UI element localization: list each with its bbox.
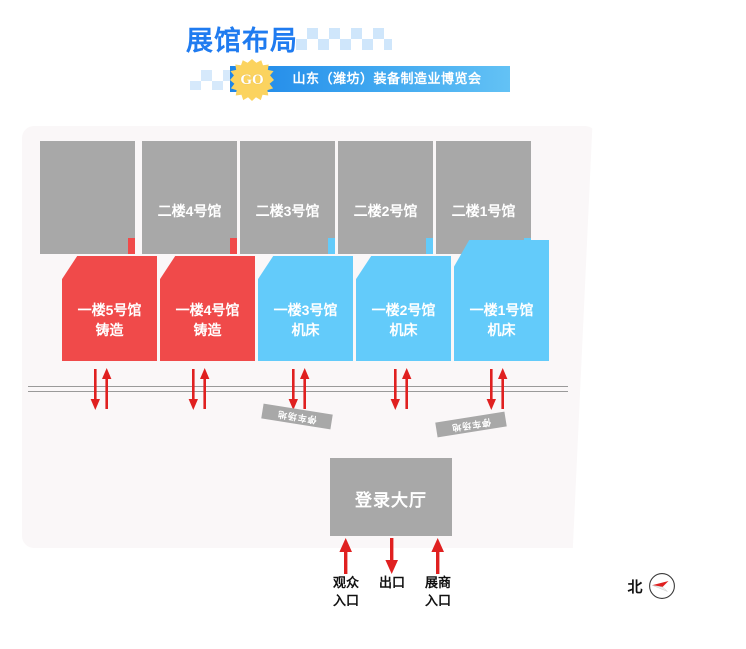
- hall-1f-2-category: 机床: [356, 320, 451, 340]
- hall-1f-5-name: 一楼5号馆: [62, 300, 157, 320]
- entrance-visitor-line2: 入口: [322, 592, 370, 610]
- compass-icon: [648, 572, 676, 600]
- arrow-up-icon: [414, 538, 462, 574]
- go-badge-label: GO: [230, 59, 274, 101]
- go-badge: GO: [230, 59, 274, 101]
- hall-1f-4-name: 一楼4号馆: [160, 300, 255, 320]
- hall-2f-2[interactable]: 二楼2号馆: [338, 141, 433, 254]
- arrow-up-icon: [322, 538, 370, 574]
- page-title: 展馆布局: [186, 24, 298, 58]
- entrance-exhibitor-line1: 展商: [414, 574, 462, 592]
- traffic-arrows-2: [188, 367, 210, 411]
- compass-north-label: 北: [626, 576, 644, 597]
- parking-banner-east-label: 停车场地: [450, 414, 492, 435]
- hall-1f-3-name: 一楼3号馆: [258, 300, 353, 320]
- compass: 北: [626, 572, 688, 600]
- hall-2f-5[interactable]: [40, 141, 135, 254]
- bidirectional-arrow-icon: [90, 367, 112, 411]
- entrance-visitor-line1: 观众: [322, 574, 370, 592]
- hall-2f-3-label: 二楼3号馆: [240, 201, 335, 221]
- traffic-arrows-3: [288, 367, 310, 411]
- venue-map: 二楼4号馆 二楼3号馆 二楼2号馆 二楼1号馆 一楼5号馆 铸造 一楼4号馆 铸…: [0, 0, 746, 649]
- hall-2f-3[interactable]: 二楼3号馆: [240, 141, 335, 254]
- hall-connector-4: [230, 238, 237, 254]
- bidirectional-arrow-icon: [486, 367, 508, 411]
- bidirectional-arrow-icon: [188, 367, 210, 411]
- hall-2f-1-label: 二楼1号馆: [436, 201, 531, 221]
- bidirectional-arrow-icon: [288, 367, 310, 411]
- page-title-wrap: 展馆布局: [186, 24, 298, 58]
- hall-1f-1-category: 机床: [454, 320, 549, 340]
- hall-1f-1-name: 一楼1号馆: [454, 300, 549, 320]
- exit: 出口: [368, 538, 416, 592]
- hall-1f-3[interactable]: 一楼3号馆 机床: [258, 256, 353, 361]
- hall-1f-2-name: 一楼2号馆: [356, 300, 451, 320]
- hall-1f-4[interactable]: 一楼4号馆 铸造: [160, 256, 255, 361]
- checker-pattern-title: [296, 28, 392, 50]
- hall-1f-2[interactable]: 一楼2号馆 机床: [356, 256, 451, 361]
- entrance-exhibitor: 展商 入口: [414, 538, 462, 610]
- arrow-down-icon: [368, 538, 416, 574]
- parking-banner-east: 停车场地: [435, 412, 506, 438]
- traffic-arrows-1: [90, 367, 112, 411]
- hall-2f-2-label: 二楼2号馆: [338, 201, 433, 221]
- hall-1f-4-category: 铸造: [160, 320, 255, 340]
- hall-1f-5[interactable]: 一楼5号馆 铸造: [62, 256, 157, 361]
- bidirectional-arrow-icon: [390, 367, 412, 411]
- traffic-arrows-5: [486, 367, 508, 411]
- hall-1f-1[interactable]: 一楼1号馆 机床: [454, 240, 549, 361]
- hall-1f-5-category: 铸造: [62, 320, 157, 340]
- hall-2f-4[interactable]: 二楼4号馆: [142, 141, 237, 254]
- traffic-arrows-4: [390, 367, 412, 411]
- exit-line1: 出口: [368, 574, 416, 592]
- hall-connector-3: [328, 238, 335, 254]
- parking-banner-west-label: 停车场地: [276, 406, 318, 427]
- hall-2f-1[interactable]: 二楼1号馆: [436, 141, 531, 254]
- hall-connector-5: [128, 238, 135, 254]
- registration-lobby-label: 登录大厅: [330, 486, 452, 511]
- registration-lobby[interactable]: 登录大厅: [330, 458, 452, 536]
- entrance-exhibitor-line2: 入口: [414, 592, 462, 610]
- hall-connector-2: [426, 238, 433, 254]
- hall-2f-4-label: 二楼4号馆: [142, 201, 237, 221]
- hall-1f-3-category: 机床: [258, 320, 353, 340]
- entrance-visitor: 观众 入口: [322, 538, 370, 610]
